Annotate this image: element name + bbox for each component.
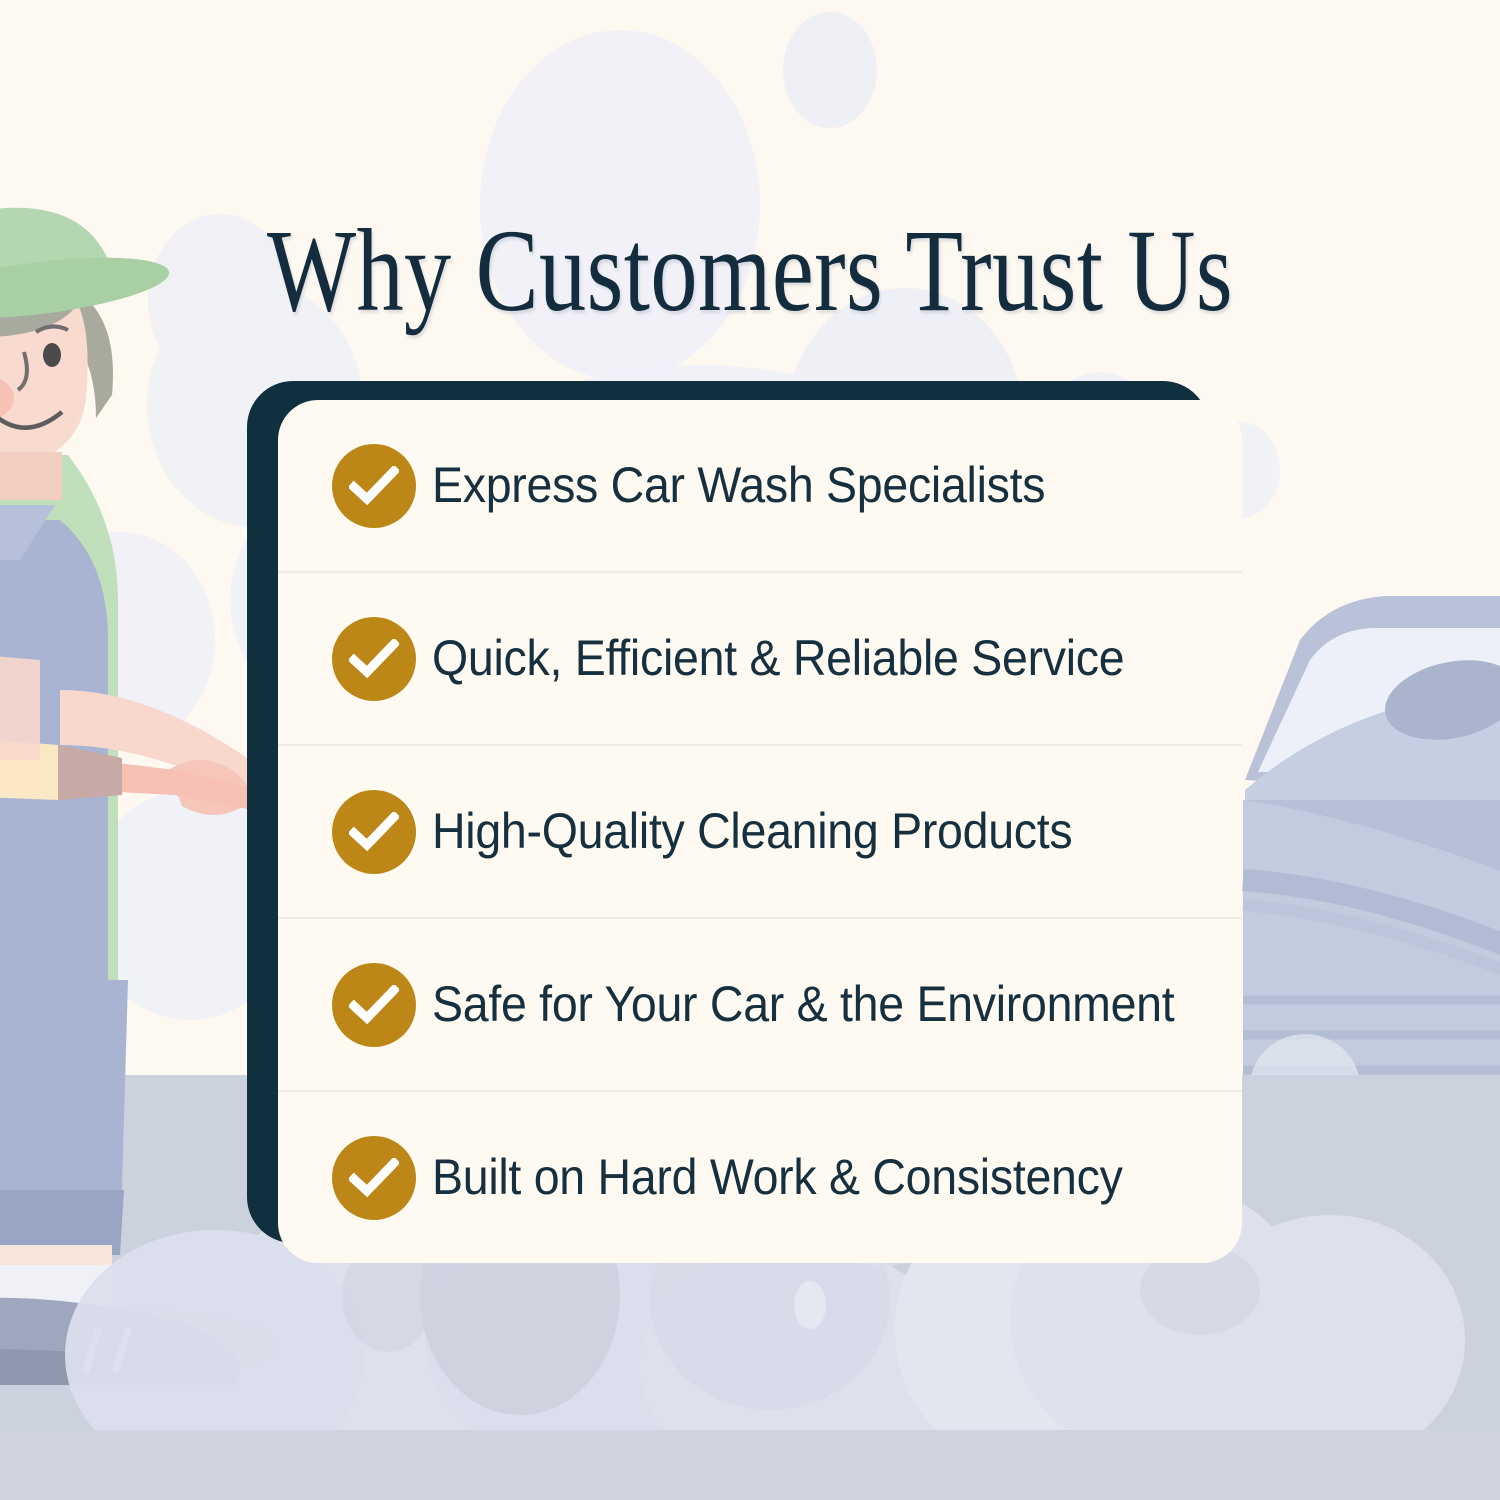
benefit-label: Safe for Your Car & the Environment (432, 977, 1174, 1032)
card-surface: Express Car Wash Specialists Quick, Effi… (278, 400, 1242, 1263)
benefit-label: Built on Hard Work & Consistency (432, 1150, 1123, 1205)
check-circle-icon (332, 444, 416, 528)
benefit-label: Express Car Wash Specialists (432, 458, 1045, 513)
check-circle-icon (332, 963, 416, 1047)
benefit-label: Quick, Efficient & Reliable Service (432, 631, 1124, 686)
page-title: Why Customers Trust Us (150, 207, 1350, 334)
eye-right (43, 343, 61, 367)
check-circle-icon (332, 790, 416, 874)
benefit-label: High-Quality Cleaning Products (432, 804, 1072, 859)
poster-canvas: Why Customers Trust Us Express Car Wash … (0, 0, 1500, 1500)
list-item[interactable]: Built on Hard Work & Consistency (278, 1092, 1242, 1263)
list-item[interactable]: High-Quality Cleaning Products (278, 746, 1242, 919)
check-circle-icon (332, 1136, 416, 1220)
list-item[interactable]: Express Car Wash Specialists (278, 400, 1242, 573)
list-item[interactable]: Safe for Your Car & the Environment (278, 919, 1242, 1092)
benefit-list: Express Car Wash Specialists Quick, Effi… (278, 400, 1242, 1263)
list-item[interactable]: Quick, Efficient & Reliable Service (278, 573, 1242, 746)
trust-card: Express Car Wash Specialists Quick, Effi… (247, 381, 1242, 1265)
check-circle-icon (332, 617, 416, 701)
